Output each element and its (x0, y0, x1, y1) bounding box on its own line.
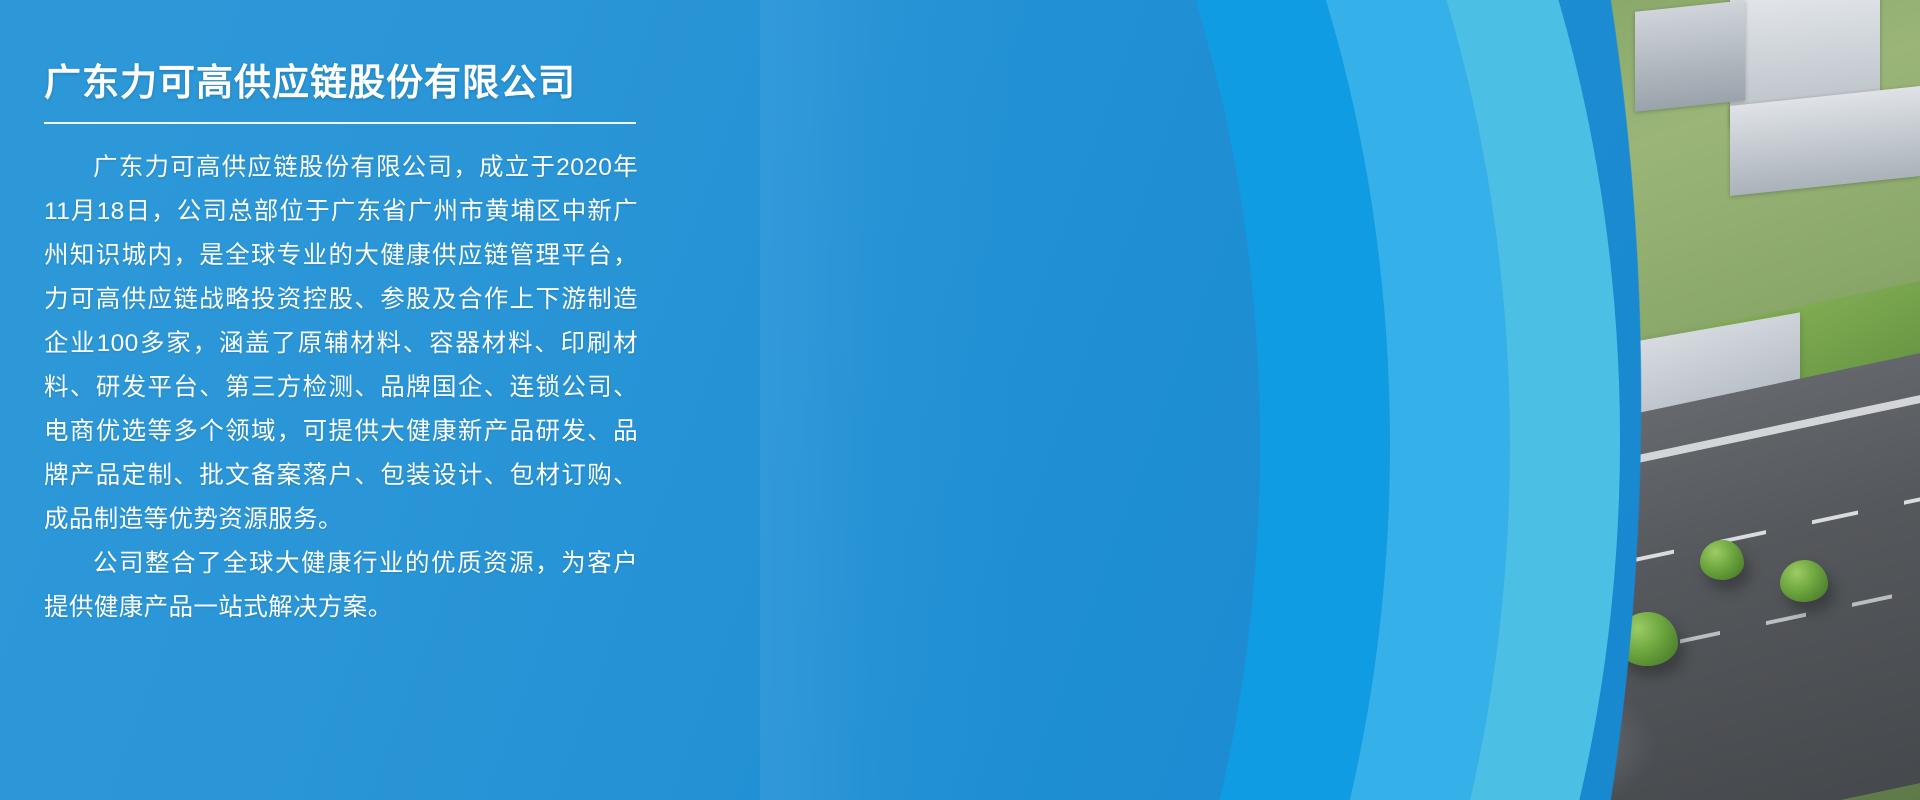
tree (852, 452, 896, 492)
page-title: 广东力可高供应链股份有限公司 (44, 52, 600, 122)
company-intro-paragraph-1: 广东力可高供应链股份有限公司，成立于2020年11月18日，公司总部位于广东省广… (44, 146, 638, 542)
company-profile-banner: 广东力可高供应链股份有限公司 广东力可高供应链股份有限公司，成立于2020年11… (0, 0, 1920, 800)
tree (1158, 590, 1198, 626)
campus-aerial-photo (760, 0, 1920, 800)
title-divider (44, 122, 636, 124)
tree (1320, 300, 1362, 338)
tree (1372, 278, 1408, 310)
ground-haze (1140, 650, 1660, 800)
company-intro-paragraph-2: 公司整合了全球大健康行业的优质资源，为客户提供健康产品一站式解决方案。 (44, 542, 638, 630)
tree (1780, 560, 1828, 602)
distant-building-2 (1635, 0, 1745, 112)
tree (968, 440, 1008, 476)
text-column: 广东力可高供应链股份有限公司 广东力可高供应链股份有限公司，成立于2020年11… (0, 0, 660, 800)
tree (908, 480, 958, 524)
tree (1512, 560, 1578, 618)
building-b-side-windows (1346, 140, 1506, 445)
tree (1432, 252, 1466, 282)
tree (1700, 540, 1744, 580)
